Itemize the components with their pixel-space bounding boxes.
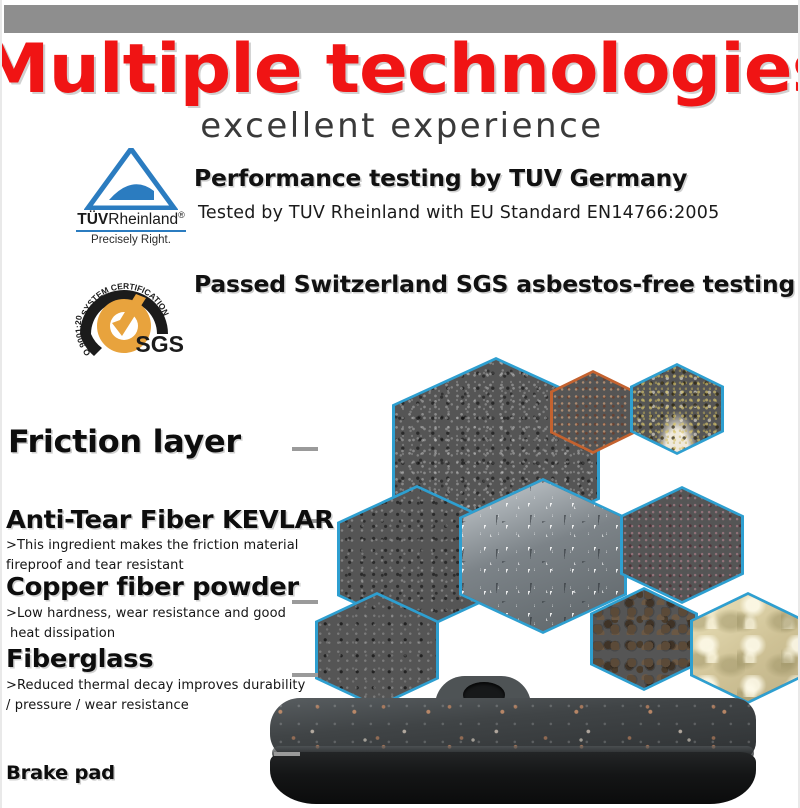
feature-title-brake-pad: Brake pad	[6, 762, 115, 784]
feature-desc-copper-line2: heat dissipation	[10, 624, 115, 644]
tuv-headline: Performance testing by TUV Germany	[194, 166, 687, 192]
sgs-badge-icon: SYSTEM CERTIFICATION ISO 9001:2000 SGS	[72, 268, 190, 358]
feature-title-fiberglass: Fiberglass	[6, 644, 153, 673]
tuv-word-rheinland: Rheinland	[108, 211, 178, 228]
sgs-headline: Passed Switzerland SGS asbestos-free tes…	[194, 272, 795, 298]
feature-desc-fiberglass-line2: / pressure / wear resistance	[6, 696, 189, 716]
feature-desc-kevlar-line1: >This ingredient makes the friction mate…	[6, 536, 299, 556]
leader-dash-friction-layer	[292, 447, 318, 451]
brake-pad	[270, 676, 756, 808]
material-hex-olive-granule-powder	[630, 363, 724, 455]
feature-title-copper-fiber-powder: Copper fiber powder	[6, 572, 299, 601]
material-texture	[623, 489, 741, 601]
feature-title-kevlar: Anti-Tear Fiber KEVLAR	[6, 505, 334, 534]
leader-dash-brake-pad	[274, 752, 300, 756]
feature-desc-copper-line1: >Low hardness, wear resistance and good	[6, 604, 286, 624]
sgs-iso-certification-badge: SYSTEM CERTIFICATION ISO 9001:2000 SGS	[72, 268, 190, 358]
material-hex-crimson-powder	[620, 486, 744, 604]
tuv-triangle-icon	[84, 148, 178, 210]
page-title: Multiple technologies	[0, 36, 800, 104]
tuv-word-tuv: TÜV	[77, 211, 108, 228]
tuv-rheinland-logo: TÜVRheinland® Precisely Right.	[70, 148, 192, 248]
brake-pad-backing-plate	[270, 752, 756, 804]
tuv-underline	[76, 230, 186, 232]
material-texture	[593, 590, 695, 688]
tuv-wordmark: TÜVRheinland®	[70, 210, 192, 229]
material-texture	[553, 373, 633, 451]
infographic-page: Multiple technologies excellent experien…	[0, 0, 800, 808]
feature-title-friction-layer: Friction layer	[8, 424, 241, 460]
page-subtitle: excellent experience	[2, 106, 800, 146]
svg-text:SGS: SGS	[135, 331, 184, 357]
top-gray-bar	[4, 5, 800, 33]
registered-trademark-icon: ®	[178, 210, 185, 220]
tuv-subline: Tested by TUV Rheinland with EU Standard…	[198, 203, 719, 223]
tuv-tagline: Precisely Right.	[70, 234, 192, 246]
feature-desc-fiberglass-line1: >Reduced thermal decay improves durabili…	[6, 676, 305, 696]
material-texture	[633, 366, 721, 452]
